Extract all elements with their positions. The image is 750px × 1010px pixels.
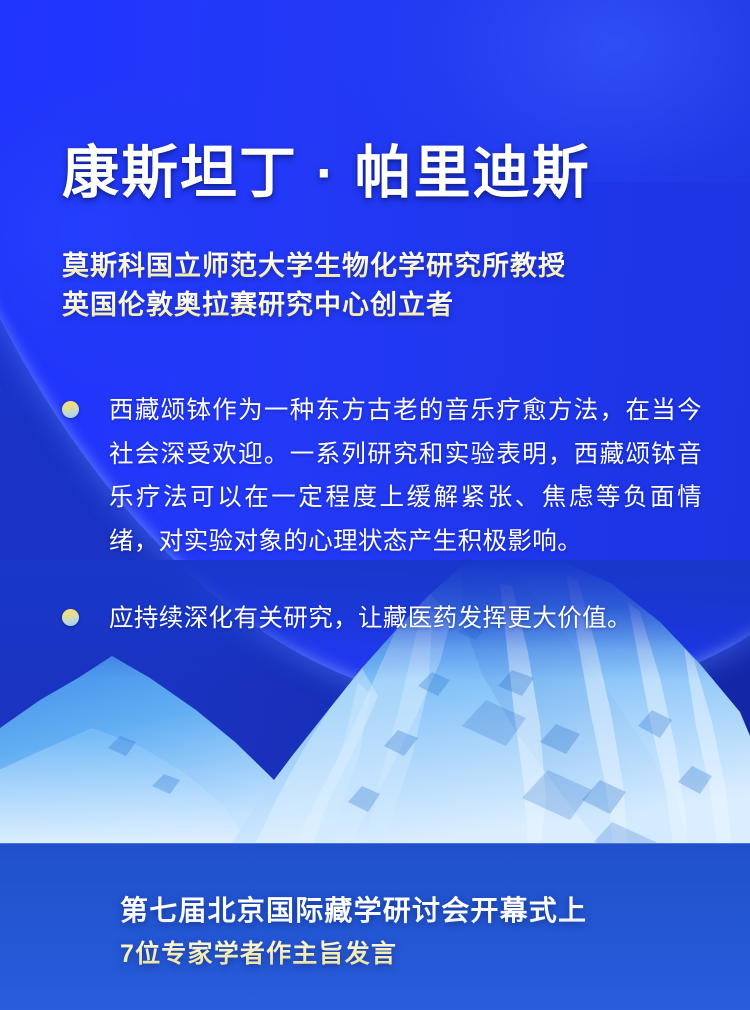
bullet-list: 西藏颂钵作为一种东方古老的音乐疗愈方法，在当今社会深受欢迎。一系列研究和实验表明…: [62, 389, 702, 675]
page-title: 康斯坦丁 · 帕里迪斯: [62, 143, 591, 205]
bullet-dot-icon: [62, 401, 79, 418]
footer-caption: 第七届北京国际藏学研讨会开幕式上 7位专家学者作主旨发言: [120, 891, 587, 972]
footer-line-2: 7位专家学者作主旨发言: [120, 937, 587, 973]
list-item: 西藏颂钵作为一种东方古老的音乐疗愈方法，在当今社会深受欢迎。一系列研究和实验表明…: [62, 389, 702, 563]
poster-card: 康斯坦丁 · 帕里迪斯 莫斯科国立师范大学生物化学研究所教授 英国伦敦奥拉赛研究…: [0, 0, 750, 1010]
footer-line-1: 第七届北京国际藏学研讨会开幕式上: [120, 891, 587, 931]
credential-line-2: 英国伦敦奥拉赛研究中心创立者: [62, 286, 566, 325]
credential-line-1: 莫斯科国立师范大学生物化学研究所教授: [62, 247, 566, 286]
list-item: 应持续深化有关研究，让藏医药发挥更大价值。: [62, 597, 702, 641]
bullet-dot-icon: [62, 609, 79, 626]
bullet-text: 西藏颂钵作为一种东方古老的音乐疗愈方法，在当今社会深受欢迎。一系列研究和实验表明…: [109, 389, 702, 563]
credentials-block: 莫斯科国立师范大学生物化学研究所教授 英国伦敦奥拉赛研究中心创立者: [62, 247, 566, 326]
bullet-text: 应持续深化有关研究，让藏医药发挥更大价值。: [109, 597, 702, 641]
